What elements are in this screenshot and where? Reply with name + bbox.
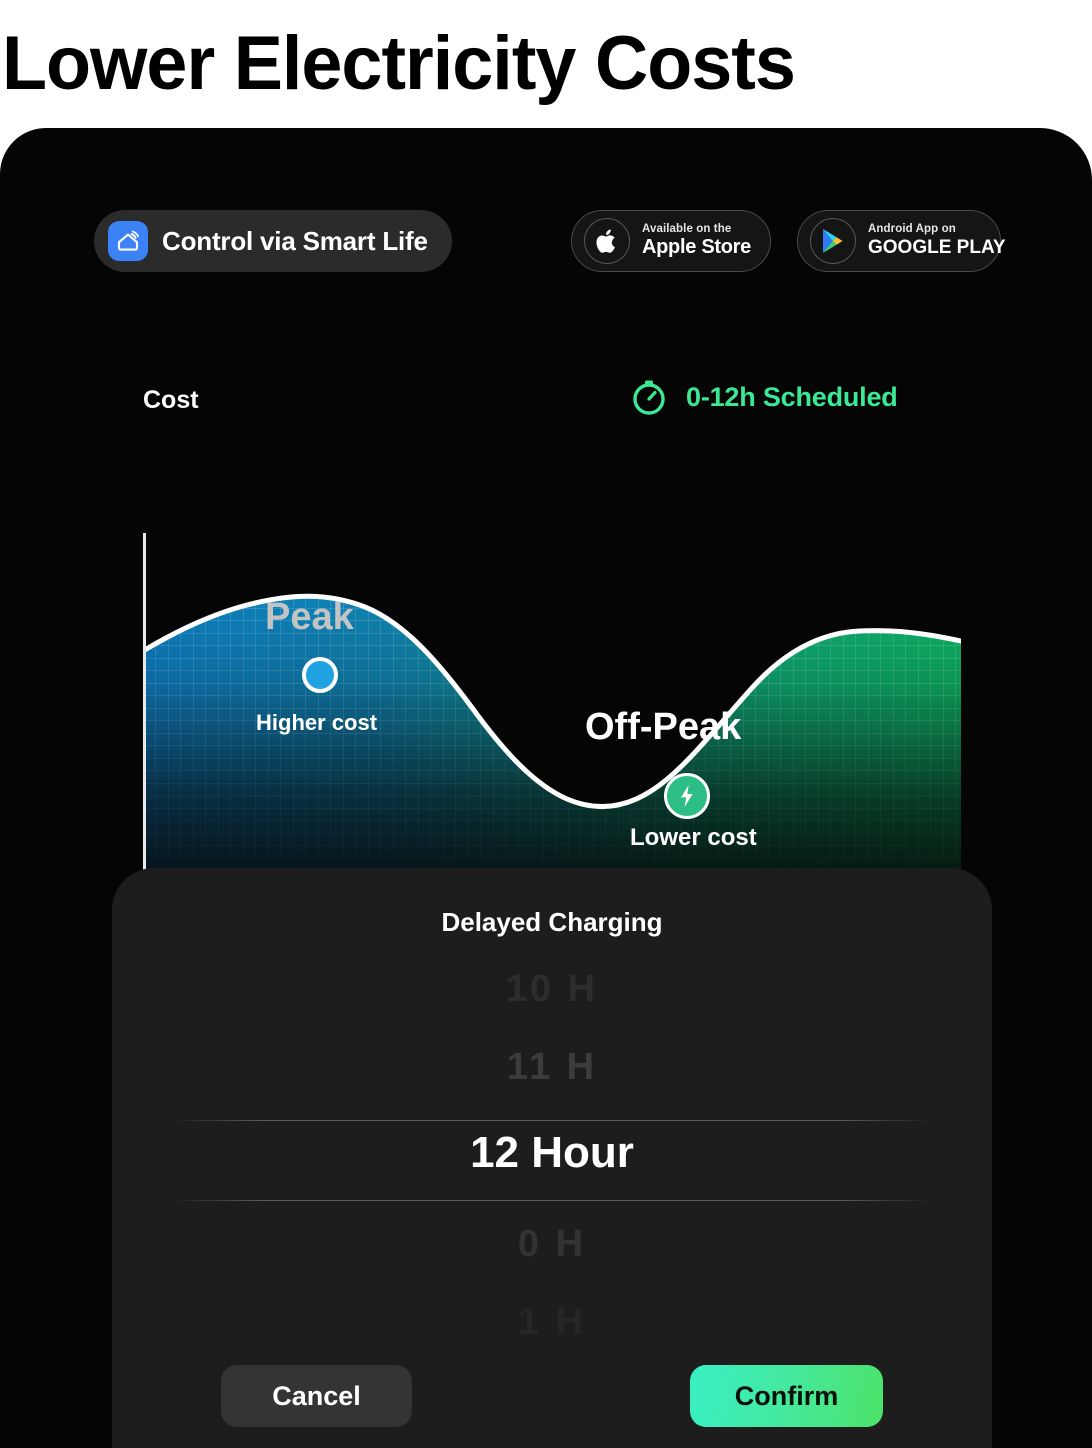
smart-life-badge-label: Control via Smart Life	[162, 226, 428, 257]
picker-option-above-2[interactable]: 10 H	[112, 968, 992, 1011]
lightning-bolt-icon	[664, 773, 710, 819]
picker-option-below-2[interactable]: 1 H	[112, 1301, 992, 1344]
cost-over-time-chart: Cost 0-12h Scheduled	[0, 338, 1092, 808]
hour-picker[interactable]: 10 H 11 H 12 Hour 0 H 1 H	[112, 968, 992, 1348]
peak-annotation-title: Peak	[265, 596, 354, 639]
apple-store-badge[interactable]: Available on the Apple Store	[571, 210, 771, 272]
control-via-smart-life-badge[interactable]: Control via Smart Life	[94, 210, 452, 272]
device-dark-panel: Control via Smart Life Available on the …	[0, 128, 1092, 1448]
schedule-status-badge: 0-12h Scheduled	[628, 376, 898, 418]
apple-store-bottom-label: Apple Store	[642, 236, 751, 259]
offpeak-annotation-title: Off-Peak	[585, 706, 741, 749]
dialog-actions: Cancel Confirm	[112, 1365, 992, 1435]
picker-divider-bottom	[172, 1200, 932, 1201]
stopwatch-timer-icon	[628, 376, 670, 418]
apple-logo-icon	[584, 218, 630, 264]
smart-life-house-wifi-icon	[108, 221, 148, 261]
schedule-status-label: 0-12h Scheduled	[686, 382, 898, 413]
confirm-button[interactable]: Confirm	[690, 1365, 883, 1427]
headline-banner: Lower Electricity Costs	[0, 0, 1092, 128]
peak-annotation-sublabel: Higher cost	[256, 710, 377, 736]
delayed-charging-dialog: Delayed Charging 10 H 11 H 12 Hour 0 H 1…	[112, 868, 992, 1448]
picker-option-below-1[interactable]: 0 H	[112, 1223, 992, 1266]
google-play-top-label: Android App on	[868, 223, 1006, 236]
chart-y-axis-line	[143, 533, 146, 893]
google-play-badge[interactable]: Android App on GOOGLE PLAY	[797, 210, 1001, 272]
google-play-triangle-icon	[810, 218, 856, 264]
chart-y-axis-label: Cost	[143, 386, 199, 415]
picker-option-above-1[interactable]: 11 H	[112, 1046, 992, 1089]
apple-store-top-label: Available on the	[642, 223, 751, 236]
google-play-bottom-label: GOOGLE PLAY	[868, 237, 1006, 259]
offpeak-annotation-sublabel: Lower cost	[630, 824, 757, 852]
app-badge-row: Control via Smart Life Available on the …	[94, 210, 1004, 272]
picker-divider-top	[172, 1120, 932, 1121]
google-play-text: Android App on GOOGLE PLAY	[868, 223, 1006, 258]
blue-dot-marker	[302, 657, 338, 693]
dialog-title: Delayed Charging	[112, 907, 992, 938]
page-title: Lower Electricity Costs	[0, 26, 795, 102]
cancel-button[interactable]: Cancel	[221, 1365, 412, 1427]
picker-selected-option[interactable]: 12 Hour	[112, 1128, 992, 1178]
apple-store-text: Available on the Apple Store	[642, 223, 751, 259]
